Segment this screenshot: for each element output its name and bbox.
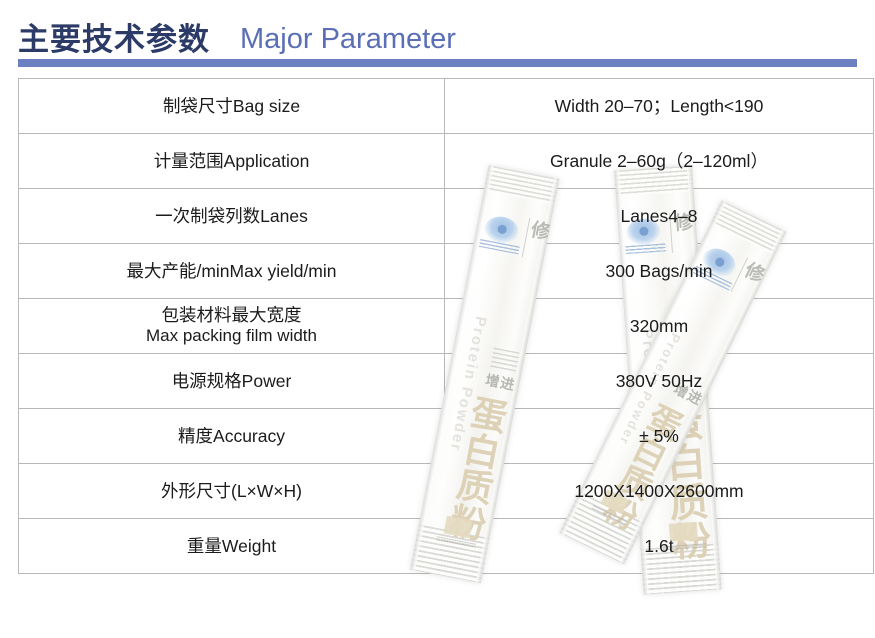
spec-label: 电源规格Power xyxy=(19,354,445,409)
spec-label-text: 制袋尺寸Bag size xyxy=(163,96,300,116)
table-row: 精度Accuracy ± 5% xyxy=(19,409,874,464)
table-row: 电源规格Power 380V 50Hz xyxy=(19,354,874,409)
table-row: 重量Weight 1.6t xyxy=(19,519,874,574)
spec-value: 1200X1400X2600mm xyxy=(445,464,874,519)
spec-value: Lanes4–8 xyxy=(445,189,874,244)
table-row: 计量范围Application Granule 2–60g（2–120ml） xyxy=(19,134,874,189)
spec-label-text: 计量范围Application xyxy=(154,151,310,171)
page-header: 主要技术参数 Major Parameter xyxy=(18,14,857,64)
spec-label-text: 包装材料最大宽度 xyxy=(162,305,302,325)
page-title-english: Major Parameter xyxy=(240,25,456,54)
spec-value: 380V 50Hz xyxy=(445,354,874,409)
spec-value: 1.6t xyxy=(445,519,874,574)
spec-label-text: 最大产能/minMax yield/min xyxy=(126,261,336,281)
spec-label: 重量Weight xyxy=(19,519,445,574)
spec-label: 精度Accuracy xyxy=(19,409,445,464)
table-row: 外形尺寸(L×W×H) 1200X1400X2600mm xyxy=(19,464,874,519)
specifications-table: 制袋尺寸Bag size Width 20–70；Length<190 计量范围… xyxy=(18,78,874,574)
title-accent-rule xyxy=(18,59,857,67)
spec-label: 计量范围Application xyxy=(19,134,445,189)
table-row: 包装材料最大宽度 Max packing film width 320mm xyxy=(19,299,874,354)
spec-value: 300 Bags/min xyxy=(445,244,874,299)
spec-label-text: 精度Accuracy xyxy=(178,426,285,446)
spec-label: 最大产能/minMax yield/min xyxy=(19,244,445,299)
table-row: 最大产能/minMax yield/min 300 Bags/min xyxy=(19,244,874,299)
spec-label-text: 外形尺寸(L×W×H) xyxy=(161,481,302,501)
spec-sheet-page: 主要技术参数 Major Parameter 修 增进 Protein Powd… xyxy=(0,0,875,638)
spec-label-text: 重量Weight xyxy=(187,536,276,556)
table-row: 一次制袋列数Lanes Lanes4–8 xyxy=(19,189,874,244)
table-row: 制袋尺寸Bag size Width 20–70；Length<190 xyxy=(19,79,874,134)
spec-value: Width 20–70；Length<190 xyxy=(445,79,874,134)
spec-label-text: 电源规格Power xyxy=(172,371,292,391)
spec-value: 320mm xyxy=(445,299,874,354)
spec-value: Granule 2–60g（2–120ml） xyxy=(445,134,874,189)
spec-value: ± 5% xyxy=(445,409,874,464)
spec-label-text-secondary: Max packing film width xyxy=(23,326,440,346)
spec-label: 外形尺寸(L×W×H) xyxy=(19,464,445,519)
spec-label: 一次制袋列数Lanes xyxy=(19,189,445,244)
spec-label: 制袋尺寸Bag size xyxy=(19,79,445,134)
spec-label: 包装材料最大宽度 Max packing film width xyxy=(19,299,445,354)
spec-label-text: 一次制袋列数Lanes xyxy=(155,206,308,226)
specifications-table-body: 制袋尺寸Bag size Width 20–70；Length<190 计量范围… xyxy=(19,79,874,574)
page-title-chinese: 主要技术参数 xyxy=(18,24,210,55)
